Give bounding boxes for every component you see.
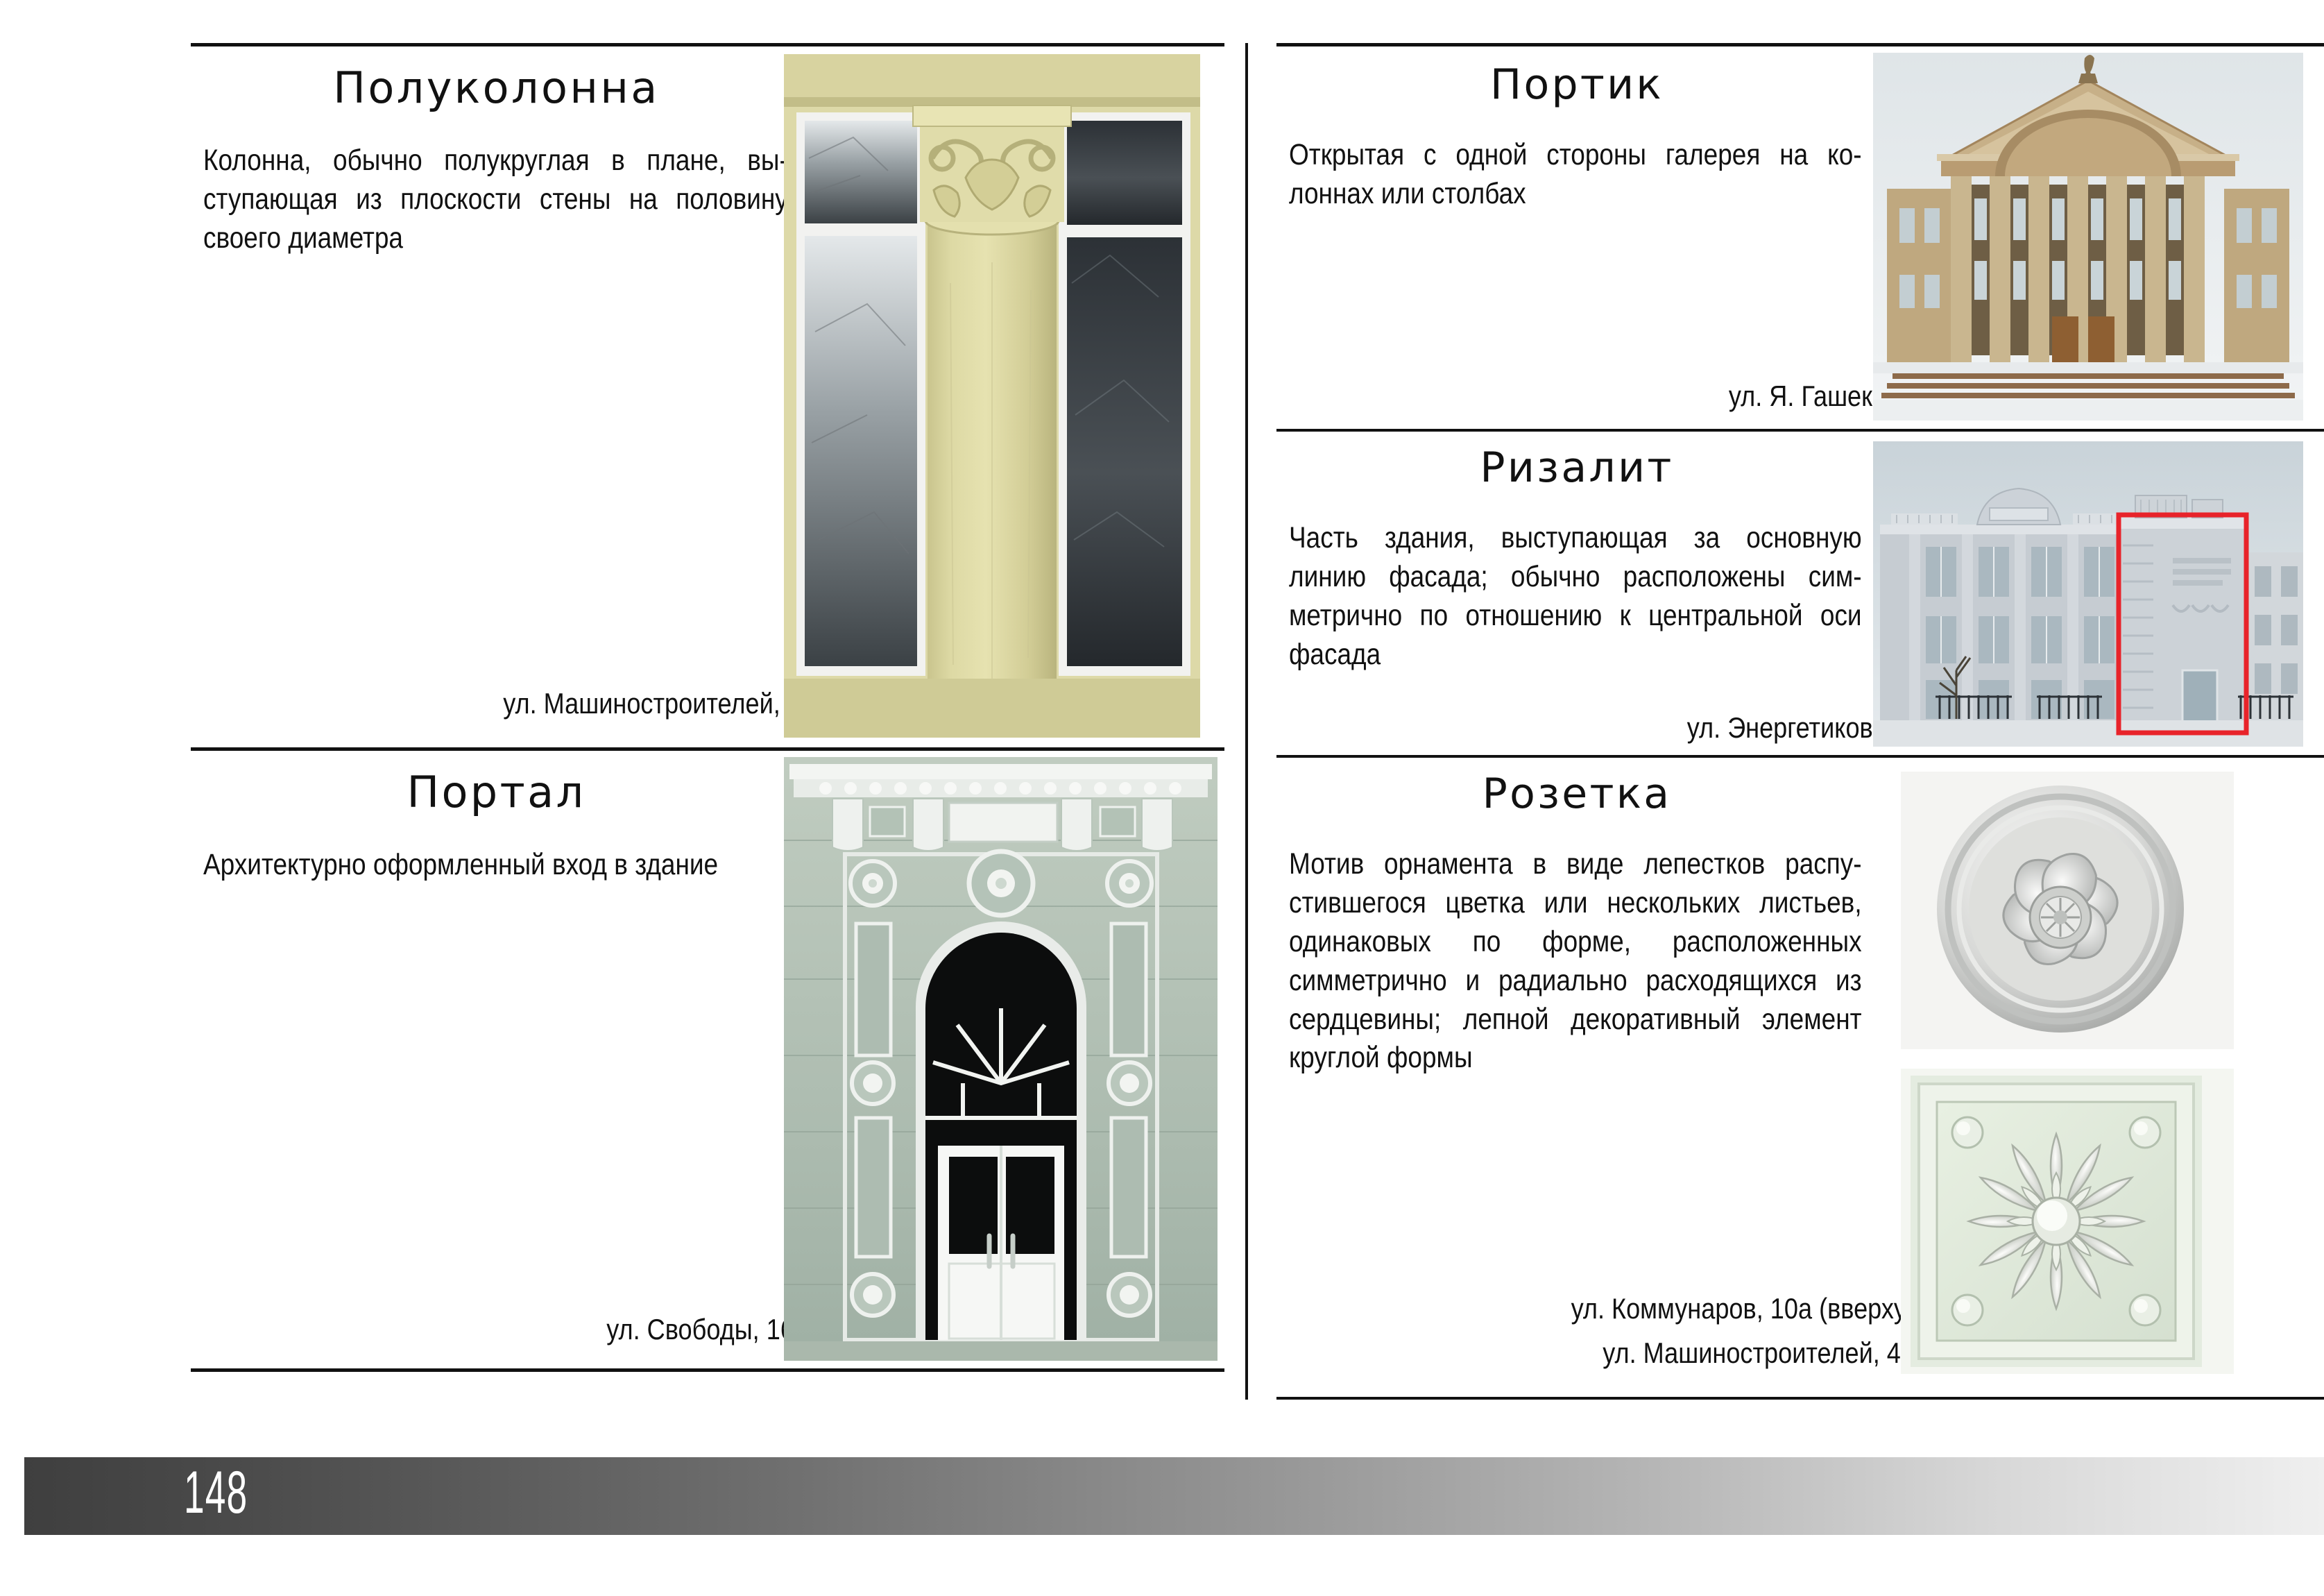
- rozetka-caption-line1: ул. Коммунаров, 10а (вверху): [1378, 1290, 1915, 1327]
- entry-portik: Портик Открытая с одной стороны галерея …: [1276, 43, 2324, 432]
- footer-gradient-bar: [24, 1457, 2324, 1535]
- entry-polukolonna: Полуколонна Колонна, обычно полукруглая …: [191, 43, 1224, 747]
- portik-caption: ул. Я. Гашека, 1: [1497, 377, 1915, 415]
- rozetka-photo-square: [1901, 1069, 2234, 1374]
- portal-caption: ул. Свободы, 161: [367, 1311, 808, 1348]
- polukolonna-title: Полуколонна: [203, 67, 789, 110]
- polukolonna-body: Колонна, обычно полукруглая в плане, вы-…: [203, 142, 788, 258]
- rozetka-title: Розетка: [1289, 773, 1865, 815]
- portik-body: Открытая с одной стороны галерея на ко-л…: [1289, 136, 1862, 214]
- portik-title: Портик: [1289, 64, 1865, 105]
- portal-title: Портал: [203, 771, 789, 814]
- rizalit-caption: ул. Энергетиков, 63: [1497, 709, 1915, 747]
- portik-text: Портик Открытая с одной стороны галерея …: [1289, 64, 1865, 214]
- portal-body: Архитектурно оформленный вход в здание: [203, 846, 788, 885]
- portal-top-rule: [191, 747, 1224, 751]
- rizalit-text: Ризалит Часть здания, выступающая за осн…: [1289, 447, 1865, 674]
- rizalit-title: Ризалит: [1289, 447, 1865, 489]
- portik-photo: [1873, 53, 2303, 421]
- portal-bottom-rule: [191, 1368, 1224, 1372]
- polukolonna-caption: ул. Машиностроителей, 34: [361, 685, 815, 722]
- rizalit-photo: [1873, 441, 2303, 747]
- page-number: 148: [184, 1463, 248, 1522]
- entry-rizalit: Ризалит Часть здания, выступающая за осн…: [1276, 432, 2324, 758]
- entry-portal: Портал Архитектурно оформленный вход в з…: [191, 747, 1224, 1372]
- rozetka-photo-round: [1901, 772, 2234, 1049]
- dictionary-page: Полуколонна Колонна, обычно полукруглая …: [0, 0, 2324, 1596]
- entry-top-rule: [191, 43, 1224, 46]
- portik-top-rule: [1276, 43, 2324, 46]
- rozetka-caption-line2: ул. Машиностроителей, 42: [1378, 1334, 1915, 1372]
- polukolonna-text: Полуколонна Колонна, обычно полукруглая …: [203, 67, 789, 258]
- portal-photo: [784, 757, 1217, 1361]
- rozetka-bottom-rule: [1276, 1397, 2324, 1400]
- polukolonna-photo: [784, 54, 1200, 738]
- left-column: Полуколонна Колонна, обычно полукруглая …: [191, 0, 1224, 1596]
- rozetka-body: Мотив орнамента в виде лепестков распу-с…: [1289, 845, 1862, 1078]
- rozetka-text: Розетка Мотив орнамента в виде лепестков…: [1289, 773, 1865, 1078]
- rizalit-body: Часть здания, выступающая за основную ли…: [1289, 519, 1862, 674]
- right-column: Портик Открытая с одной стороны галерея …: [1276, 0, 2324, 1596]
- column-divider: [1245, 43, 1248, 1400]
- portal-text: Портал Архитектурно оформленный вход в з…: [203, 771, 789, 885]
- entry-rozetka: Розетка Мотив орнамента в виде лепестков…: [1276, 758, 2324, 1400]
